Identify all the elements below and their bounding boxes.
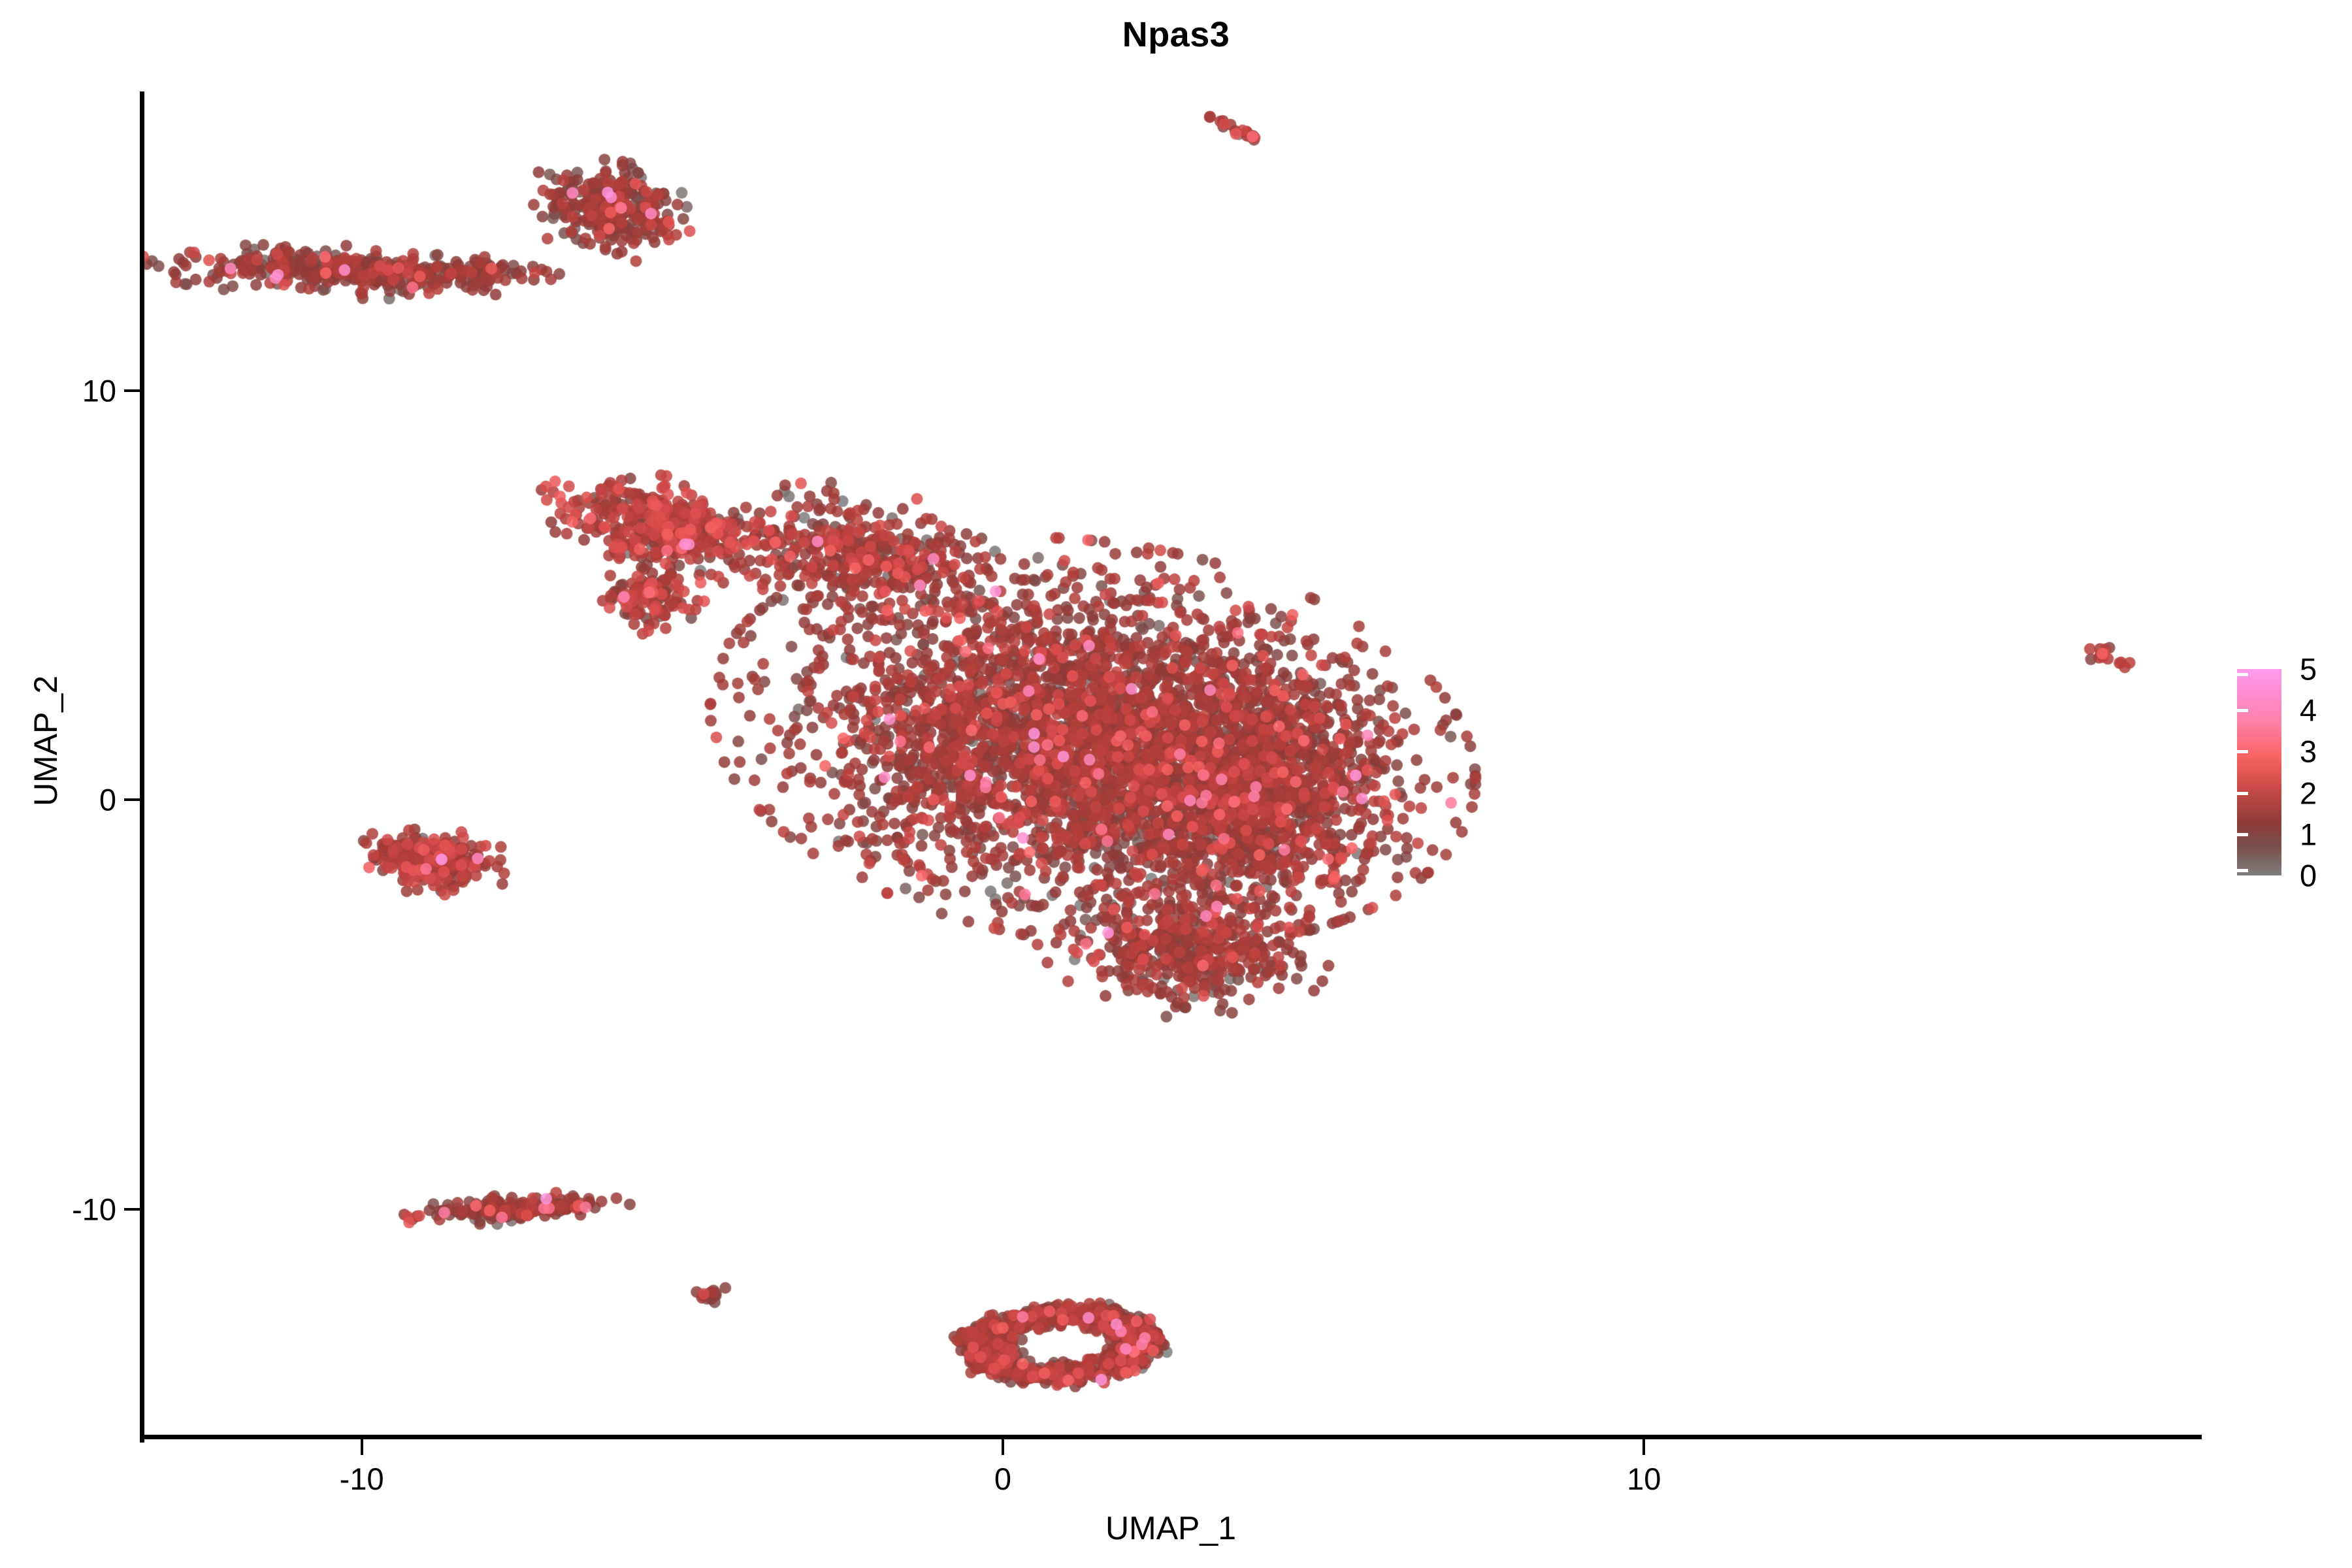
colorbar-tick [2237,792,2248,795]
y-axis-title: UMAP_2 [27,42,65,1440]
x-axis-tick [1002,1439,1004,1455]
colorbar-tick-label: 5 [2300,651,2317,687]
y-axis-tick [124,1208,140,1211]
plot-panel [144,91,2202,1439]
x-axis-line [140,1435,2202,1439]
colorbar-tick-label: 0 [2300,858,2317,894]
umap-feature-plot: Npas3 -10 0 10 10 0 -10 UMAP_1 UMAP_2 54… [0,0,2352,1568]
colorbar-tick-label: 2 [2300,775,2317,811]
colorbar-tick-label: 3 [2300,734,2317,770]
colorbar-tick [2237,673,2248,676]
x-axis-tick [1642,1439,1645,1455]
y-axis-tick [124,389,140,392]
colorbar-gradient [2237,669,2281,875]
colorbar-tick-label: 4 [2300,693,2317,728]
colorbar-tick [2344,792,2352,795]
page-title: Npas3 [0,14,2352,55]
y-axis-tick [124,798,140,801]
x-axis-title: UMAP_1 [140,1509,2202,1547]
colorbar-tick-label: 1 [2300,816,2317,852]
x-axis-tick [361,1439,363,1455]
scatter-points-canvas [144,91,2202,1439]
colorbar-tick [2237,750,2248,753]
colorbar-legend: 543210 [2237,669,2352,885]
colorbar-tick [2344,673,2352,676]
colorbar-tick [2344,750,2352,753]
colorbar-tick [2237,833,2248,836]
x-axis-tick-label: -10 [340,1461,384,1497]
x-axis-tick-label: 0 [994,1461,1011,1497]
y-axis-line [140,91,144,1443]
colorbar-tick [2344,833,2352,836]
colorbar-tick [2237,869,2248,872]
x-axis-tick-label: 10 [1627,1461,1661,1497]
colorbar-tick [2344,869,2352,872]
colorbar-tick [2344,709,2352,712]
colorbar-tick [2237,709,2248,712]
